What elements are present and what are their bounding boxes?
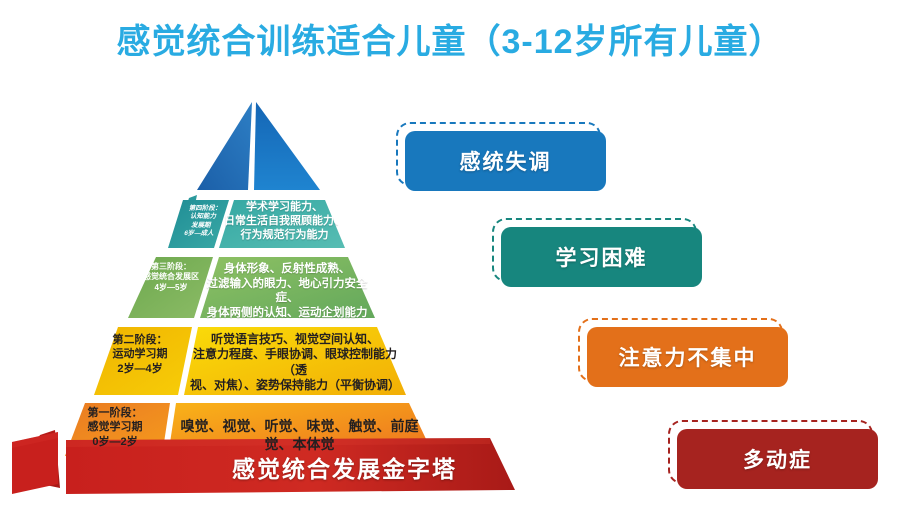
badge-sensory-integration-disorder[interactable]: 感统失调 xyxy=(405,131,606,191)
badge-learning-difficulty[interactable]: 学习困难 xyxy=(501,227,702,287)
pyramid-tier-4 xyxy=(168,195,345,248)
badge-outline-3: 多动症 xyxy=(668,420,873,484)
badge-outline-2: 注意力不集中 xyxy=(578,318,783,382)
page-title: 感觉统合训练适合儿童（3-12岁所有儿童） xyxy=(0,14,900,63)
pyramid-tier-3 xyxy=(128,257,375,318)
badge-inattention[interactable]: 注意力不集中 xyxy=(587,327,788,387)
pyramid-apex xyxy=(197,102,320,190)
badge-outline-0: 感统失调 xyxy=(396,122,601,186)
badge-adhd[interactable]: 多动症 xyxy=(677,429,878,489)
diagram-canvas: 感觉统合训练适合儿童（3-12岁所有儿童） xyxy=(0,0,900,528)
pyramid-tier-2 xyxy=(94,327,406,395)
badge-outline-1: 学习困难 xyxy=(492,218,697,282)
